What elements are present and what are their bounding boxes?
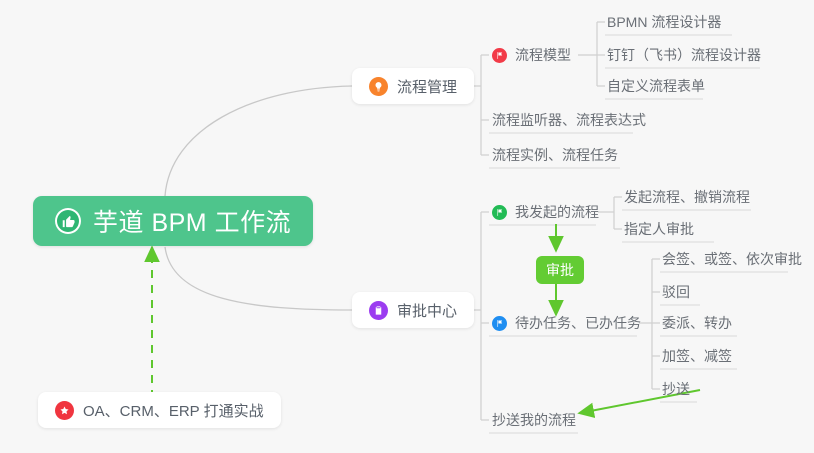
lightbulb-icon: [369, 77, 388, 96]
label-bpmn-designer: BPMN 流程设计器: [607, 12, 721, 32]
node-my-started-process[interactable]: 我发起的流程: [489, 198, 605, 226]
leaf-countersign[interactable]: 会签、或签、依次审批: [659, 245, 808, 273]
flag-green-icon: [492, 205, 507, 220]
label-reject: 驳回: [662, 282, 690, 302]
root-node[interactable]: 芋道 BPM 工作流: [33, 196, 313, 246]
label-assignee-approval: 指定人审批: [624, 219, 694, 239]
footnote-label: OA、CRM、ERP 打通实战: [83, 400, 264, 421]
branch-label-process-management: 流程管理: [397, 76, 457, 97]
leaf-cc-to-me-process[interactable]: 抄送我的流程: [489, 406, 582, 434]
leaf-dingtalk-feishu-designer[interactable]: 钉钉（飞书）流程设计器: [604, 41, 767, 69]
leaf-listener-expression[interactable]: 流程监听器、流程表达式: [489, 106, 652, 134]
label-dingtalk-feishu-designer: 钉钉（飞书）流程设计器: [607, 45, 761, 65]
label-todo-done-task: 待办任务、已办任务: [515, 313, 641, 333]
leaf-instance-task[interactable]: 流程实例、流程任务: [489, 141, 624, 169]
leaf-cc[interactable]: 抄送: [659, 375, 696, 403]
label-countersign: 会签、或签、依次审批: [662, 249, 802, 269]
leaf-start-cancel-process[interactable]: 发起流程、撤销流程: [621, 183, 756, 211]
label-instance-task: 流程实例、流程任务: [492, 145, 618, 165]
leaf-custom-process-form[interactable]: 自定义流程表单: [604, 72, 711, 100]
thumbs-up-icon: [55, 208, 81, 234]
node-process-model[interactable]: 流程模型: [489, 41, 577, 69]
flag-blue-icon: [492, 316, 507, 331]
leaf-add-remove-sign[interactable]: 加签、减签: [659, 342, 738, 370]
label-listener-expression: 流程监听器、流程表达式: [492, 110, 646, 130]
footnote-node[interactable]: OA、CRM、ERP 打通实战: [38, 392, 281, 428]
branch-node-process-management[interactable]: 流程管理: [352, 68, 474, 104]
label-start-cancel-process: 发起流程、撤销流程: [624, 187, 750, 207]
label-cc-to-me-process: 抄送我的流程: [492, 410, 576, 430]
leaf-reject[interactable]: 驳回: [659, 278, 696, 306]
leaf-assignee-approval[interactable]: 指定人审批: [621, 215, 700, 243]
label-add-remove-sign: 加签、减签: [662, 346, 732, 366]
star-icon: [55, 401, 74, 420]
leaf-bpmn-designer[interactable]: BPMN 流程设计器: [604, 8, 727, 36]
root-label: 芋道 BPM 工作流: [93, 203, 291, 239]
clipboard-icon: [369, 301, 388, 320]
label-delegate-transfer: 委派、转办: [662, 313, 732, 333]
flag-red-icon: [492, 48, 507, 63]
leaf-delegate-transfer[interactable]: 委派、转办: [659, 309, 738, 337]
flow-badge-label: 审批: [546, 260, 574, 280]
label-my-started-process: 我发起的流程: [515, 202, 599, 222]
label-process-model: 流程模型: [515, 45, 571, 65]
node-todo-done-task[interactable]: 待办任务、已办任务: [489, 309, 647, 337]
branch-label-approval-center: 审批中心: [397, 300, 457, 321]
label-cc: 抄送: [662, 379, 690, 399]
mindmap-canvas: 芋道 BPM 工作流 流程管理 流程模型 BPMN 流程设计器 钉钉（飞书）流程…: [0, 0, 814, 453]
flow-badge-approval: 审批: [536, 256, 584, 284]
branch-node-approval-center[interactable]: 审批中心: [352, 292, 474, 328]
label-custom-process-form: 自定义流程表单: [607, 76, 705, 96]
